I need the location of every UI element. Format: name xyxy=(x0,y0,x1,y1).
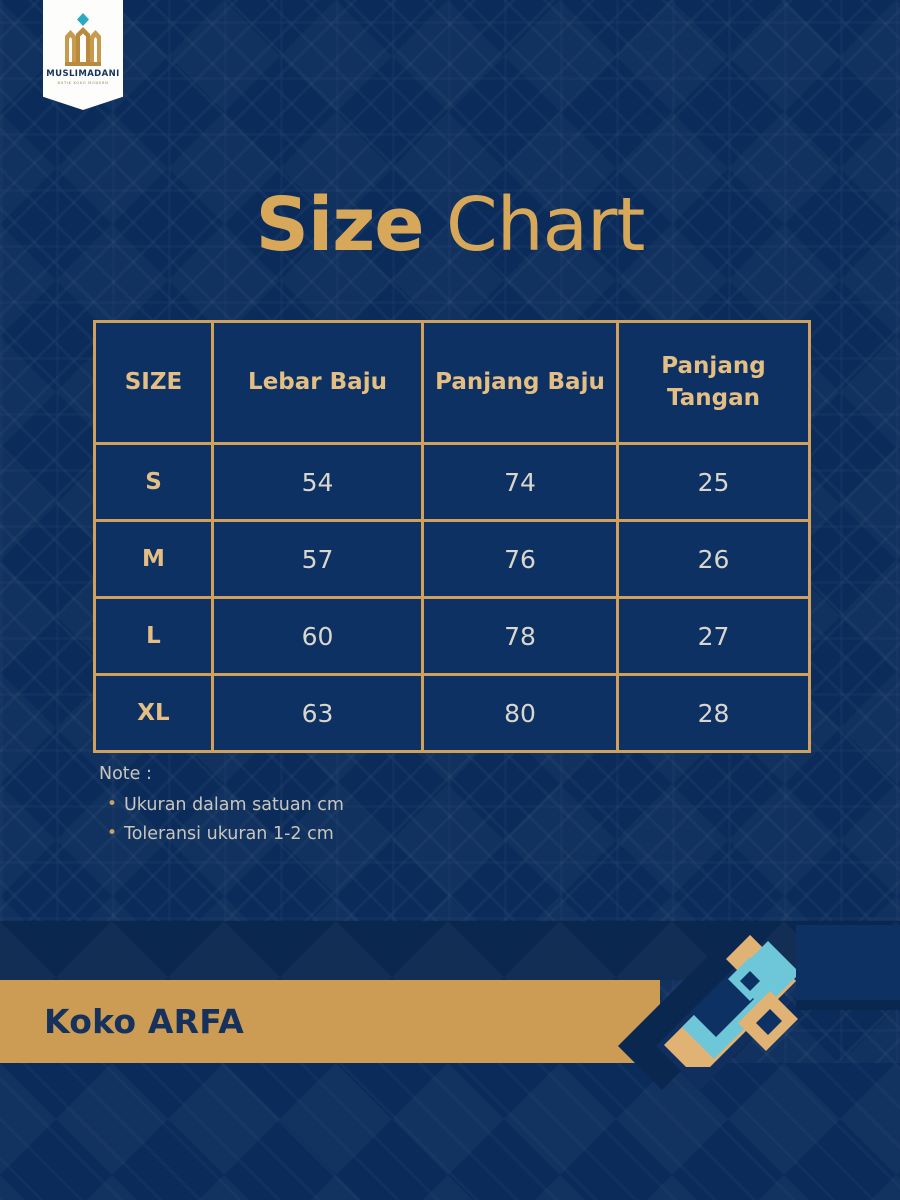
cell-panjang-tangan: 25 xyxy=(618,444,810,521)
table-row: L 60 78 27 xyxy=(95,598,810,675)
cell-lebar-baju: 57 xyxy=(213,521,423,598)
cell-panjang-baju: 74 xyxy=(423,444,618,521)
page-title: Size Chart xyxy=(0,188,900,262)
size-chart-table: SIZE Lebar Baju Panjang Baju Panjang Tan… xyxy=(93,320,811,753)
cell-panjang-baju: 78 xyxy=(423,598,618,675)
cell-lebar-baju: 54 xyxy=(213,444,423,521)
notes-title: Note : xyxy=(99,760,344,789)
cell-size: L xyxy=(95,598,213,675)
notes-section: Note : Ukuran dalam satuan cm Toleransi … xyxy=(99,760,344,849)
cell-lebar-baju: 63 xyxy=(213,675,423,752)
muslimadani-monogram-icon xyxy=(57,10,109,68)
cell-panjang-tangan: 28 xyxy=(618,675,810,752)
cell-size: XL xyxy=(95,675,213,752)
column-header-panjang-tangan: Panjang Tangan xyxy=(618,322,810,444)
product-name-banner: Koko ARFA xyxy=(0,980,660,1063)
notes-list: Ukuran dalam satuan cm Toleransi ukuran … xyxy=(99,791,344,849)
chevron-diamond-ornament-icon xyxy=(600,905,900,1090)
cell-panjang-baju: 76 xyxy=(423,521,618,598)
note-item: Toleransi ukuran 1-2 cm xyxy=(99,820,344,849)
table-header-row: SIZE Lebar Baju Panjang Baju Panjang Tan… xyxy=(95,322,810,444)
column-header-panjang-baju: Panjang Baju xyxy=(423,322,618,444)
page-title-light: Chart xyxy=(424,182,645,268)
cell-panjang-tangan: 26 xyxy=(618,521,810,598)
brand-tagline: BUTIK KOKO MODERN xyxy=(57,81,108,85)
note-item: Ukuran dalam satuan cm xyxy=(99,791,344,820)
product-name: Koko ARFA xyxy=(44,1002,244,1041)
brand-name: MUSLIMADANI xyxy=(46,69,119,79)
table-row: S 54 74 25 xyxy=(95,444,810,521)
cell-panjang-baju: 80 xyxy=(423,675,618,752)
column-header-size: SIZE xyxy=(95,322,213,444)
brand-logo-banner: MUSLIMADANI BUTIK KOKO MODERN xyxy=(43,0,123,110)
cell-lebar-baju: 60 xyxy=(213,598,423,675)
page-title-strong: Size xyxy=(256,182,424,268)
cell-panjang-tangan: 27 xyxy=(618,598,810,675)
cell-size: M xyxy=(95,521,213,598)
table-row: XL 63 80 28 xyxy=(95,675,810,752)
table-row: M 57 76 26 xyxy=(95,521,810,598)
column-header-lebar-baju: Lebar Baju xyxy=(213,322,423,444)
cell-size: S xyxy=(95,444,213,521)
